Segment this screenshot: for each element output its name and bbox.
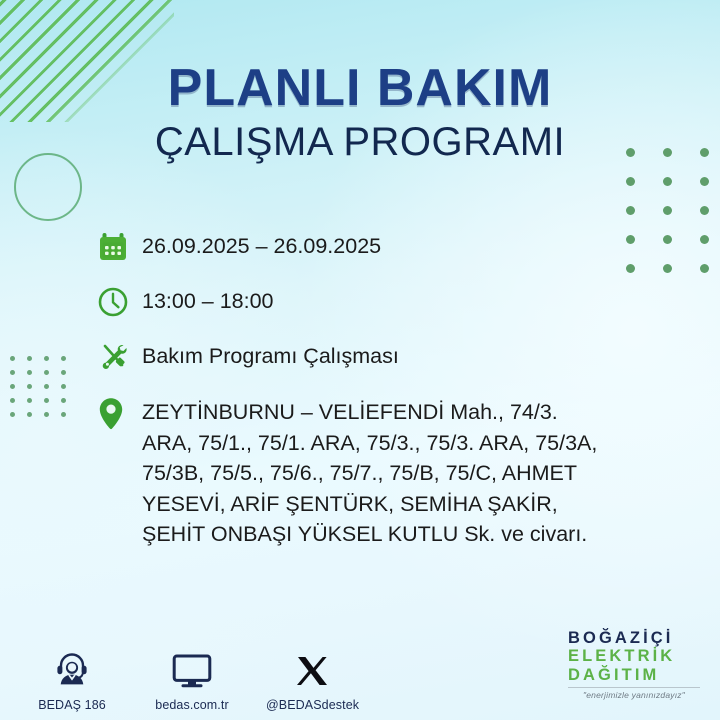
- detail-time-text: 13:00 – 18:00: [142, 281, 274, 317]
- contact-channels: BEDAŞ 186 bedas.com.tr: [26, 647, 358, 712]
- detail-row-time: 13:00 – 18:00: [96, 281, 696, 323]
- contact-website-label: bedas.com.tr: [146, 698, 238, 712]
- detail-row-work-type: Bakım Programı Çalışması: [96, 336, 696, 378]
- poster-footer: BEDAŞ 186 bedas.com.tr: [0, 624, 720, 720]
- logo-line-bogazici: BOĞAZİÇİ: [568, 629, 704, 647]
- x-twitter-icon: [266, 647, 358, 691]
- map-pin-icon: [96, 391, 142, 435]
- contact-social-x[interactable]: @BEDASdestek: [266, 647, 358, 712]
- monitor-icon: [146, 647, 238, 691]
- poster-heading: PLANLI BAKIM ÇALIŞMA PROGRAMI: [0, 62, 720, 164]
- tools-icon: [96, 336, 142, 378]
- contact-call-center-label: BEDAŞ 186: [26, 698, 118, 712]
- logo-tagline: "enerjimizle yanınızdayız": [568, 687, 700, 700]
- calendar-icon: [96, 226, 142, 268]
- outage-details: 26.09.2025 – 26.09.2025 13:00 – 18:00: [96, 226, 696, 550]
- detail-location-text: ZEYTİNBURNU – VELİEFENDİ Mah., 74/3. ARA…: [142, 391, 612, 550]
- page-title: PLANLI BAKIM: [0, 62, 720, 115]
- logo-line-dagitim: DAĞITIM: [568, 666, 704, 684]
- headset-operator-icon: [26, 647, 118, 691]
- bedas-logo: BOĞAZİÇİ ELEKTRİK DAĞITIM "enerjimizle y…: [568, 629, 704, 700]
- detail-row-location: ZEYTİNBURNU – VELİEFENDİ Mah., 74/3. ARA…: [96, 391, 696, 550]
- clock-icon: [96, 281, 142, 323]
- dot-grid-left-decoration: [10, 356, 78, 426]
- contact-call-center[interactable]: BEDAŞ 186: [26, 647, 118, 712]
- detail-date-text: 26.09.2025 – 26.09.2025: [142, 226, 381, 262]
- planned-maintenance-poster: PLANLI BAKIM ÇALIŞMA PROGRAMI: [0, 0, 720, 720]
- page-subtitle: ÇALIŞMA PROGRAMI: [0, 121, 720, 164]
- logo-line-elektrik: ELEKTRİK: [568, 647, 704, 665]
- detail-work-type-text: Bakım Programı Çalışması: [142, 336, 399, 372]
- contact-website[interactable]: bedas.com.tr: [146, 647, 238, 712]
- detail-row-date: 26.09.2025 – 26.09.2025: [96, 226, 696, 268]
- contact-social-x-label: @BEDASdestek: [266, 698, 358, 712]
